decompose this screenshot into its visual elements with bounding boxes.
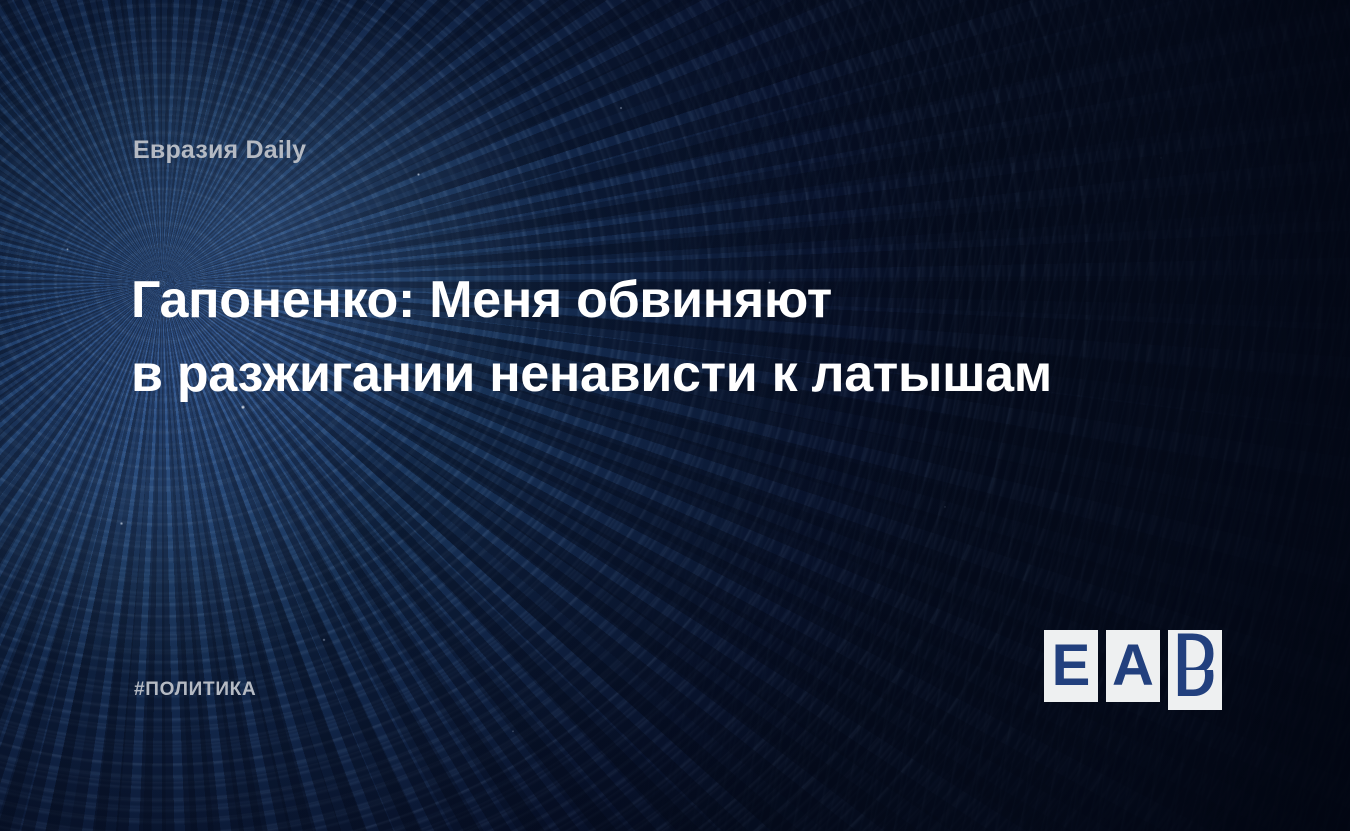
headline-line-2: в разжигании ненависти к латышам [131,338,1161,412]
logo-letter-d-upper: D [1174,630,1216,670]
logo-tile-d: D D [1168,630,1222,708]
card-content: Евразия Daily Гапоненко: Меня обвиняют в… [0,0,1350,831]
logo-tile-d-lower: D [1168,670,1222,710]
logo-tile-a: A [1106,630,1160,702]
page-title: Гапоненко: Меня обвиняют в разжигании не… [131,264,1161,412]
eadaily-logo[interactable]: E A D D [1044,630,1224,708]
topic-tag[interactable]: #ПОЛИТИКА [134,679,256,701]
headline-line-1: Гапоненко: Меня обвиняют [131,264,1161,338]
logo-tile-e: E [1044,630,1098,702]
logo-letter-d-lower: D [1174,670,1216,706]
eadaily-share-card: Евразия Daily Гапоненко: Меня обвиняют в… [0,0,1350,831]
logo-tile-d-upper: D [1168,630,1222,670]
brand-name: Евразия Daily [133,136,306,165]
